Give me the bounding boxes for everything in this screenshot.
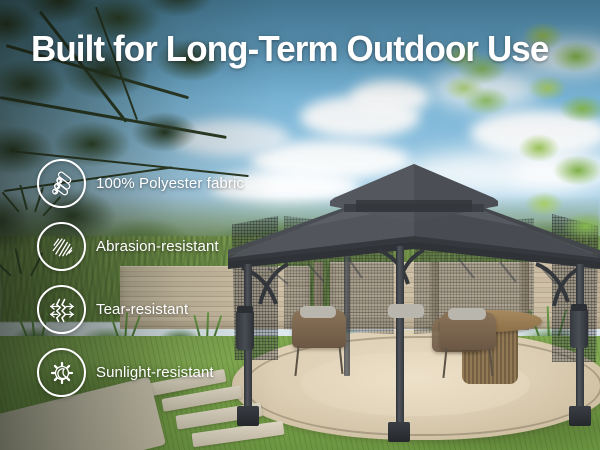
feature-label: 100% Polyester fabric bbox=[96, 175, 244, 192]
netting-curtain-roll bbox=[570, 308, 588, 348]
netting-tie-strap bbox=[571, 304, 587, 311]
gazebo-post-base bbox=[569, 406, 591, 426]
feature-list: 100% Polyester fabric Abrasion-resistant bbox=[37, 152, 244, 404]
chair-cushion bbox=[300, 306, 336, 318]
feature-item-polyester: 100% Polyester fabric bbox=[37, 152, 244, 215]
tear-arrows-icon bbox=[37, 285, 86, 334]
gazebo-post bbox=[396, 246, 404, 432]
fabric-roll-icon bbox=[37, 159, 86, 208]
feature-label: Abrasion-resistant bbox=[96, 238, 219, 255]
background-tree bbox=[500, 120, 600, 260]
abrasion-scratch-icon bbox=[37, 222, 86, 271]
chair-cushion bbox=[448, 308, 486, 320]
chair-cushion bbox=[388, 304, 424, 318]
promo-banner: Built for Long-Term Outdoor Use 100% Pol… bbox=[0, 0, 600, 450]
gazebo-post-base bbox=[237, 406, 259, 426]
feature-label: Tear-resistant bbox=[96, 301, 188, 318]
feature-item-sunlight: Sunlight-resistant bbox=[37, 341, 244, 404]
gazebo-post-base bbox=[388, 422, 410, 442]
feature-label: Sunlight-resistant bbox=[96, 364, 214, 381]
feature-item-abrasion: Abrasion-resistant bbox=[37, 215, 244, 278]
feature-item-tear: Tear-resistant bbox=[37, 278, 244, 341]
cloud bbox=[350, 80, 430, 114]
sun-icon bbox=[37, 348, 86, 397]
page-title: Built for Long-Term Outdoor Use bbox=[31, 31, 548, 67]
